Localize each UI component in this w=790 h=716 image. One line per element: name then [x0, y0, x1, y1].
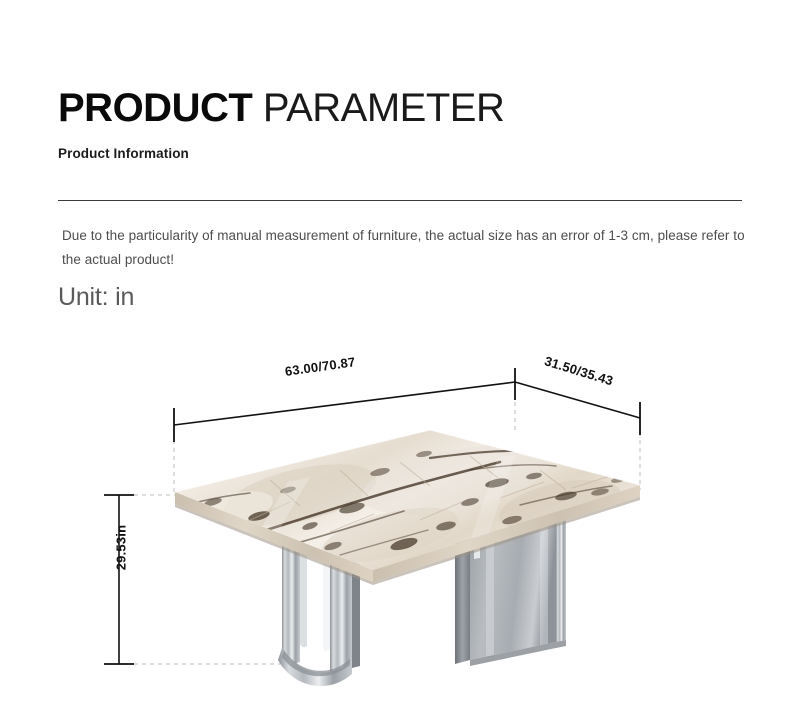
unit-label: Unit: in — [58, 283, 134, 312]
table-diagram — [0, 330, 790, 716]
table-diagram-svg — [0, 330, 790, 716]
page-title-light: PARAMETER — [252, 86, 504, 130]
dimension-ticks-top — [174, 368, 640, 442]
table-illustration — [175, 430, 640, 686]
page-title: PRODUCT PARAMETER — [58, 86, 504, 130]
section-subtitle: Product Information — [58, 146, 189, 161]
horizontal-divider — [58, 200, 742, 201]
page-title-bold: PRODUCT — [58, 86, 252, 130]
measurement-note: Due to the particularity of manual measu… — [62, 224, 752, 272]
dimension-lines-top — [174, 382, 640, 425]
product-parameter-page: PRODUCT PARAMETER Product Information Du… — [0, 0, 790, 716]
